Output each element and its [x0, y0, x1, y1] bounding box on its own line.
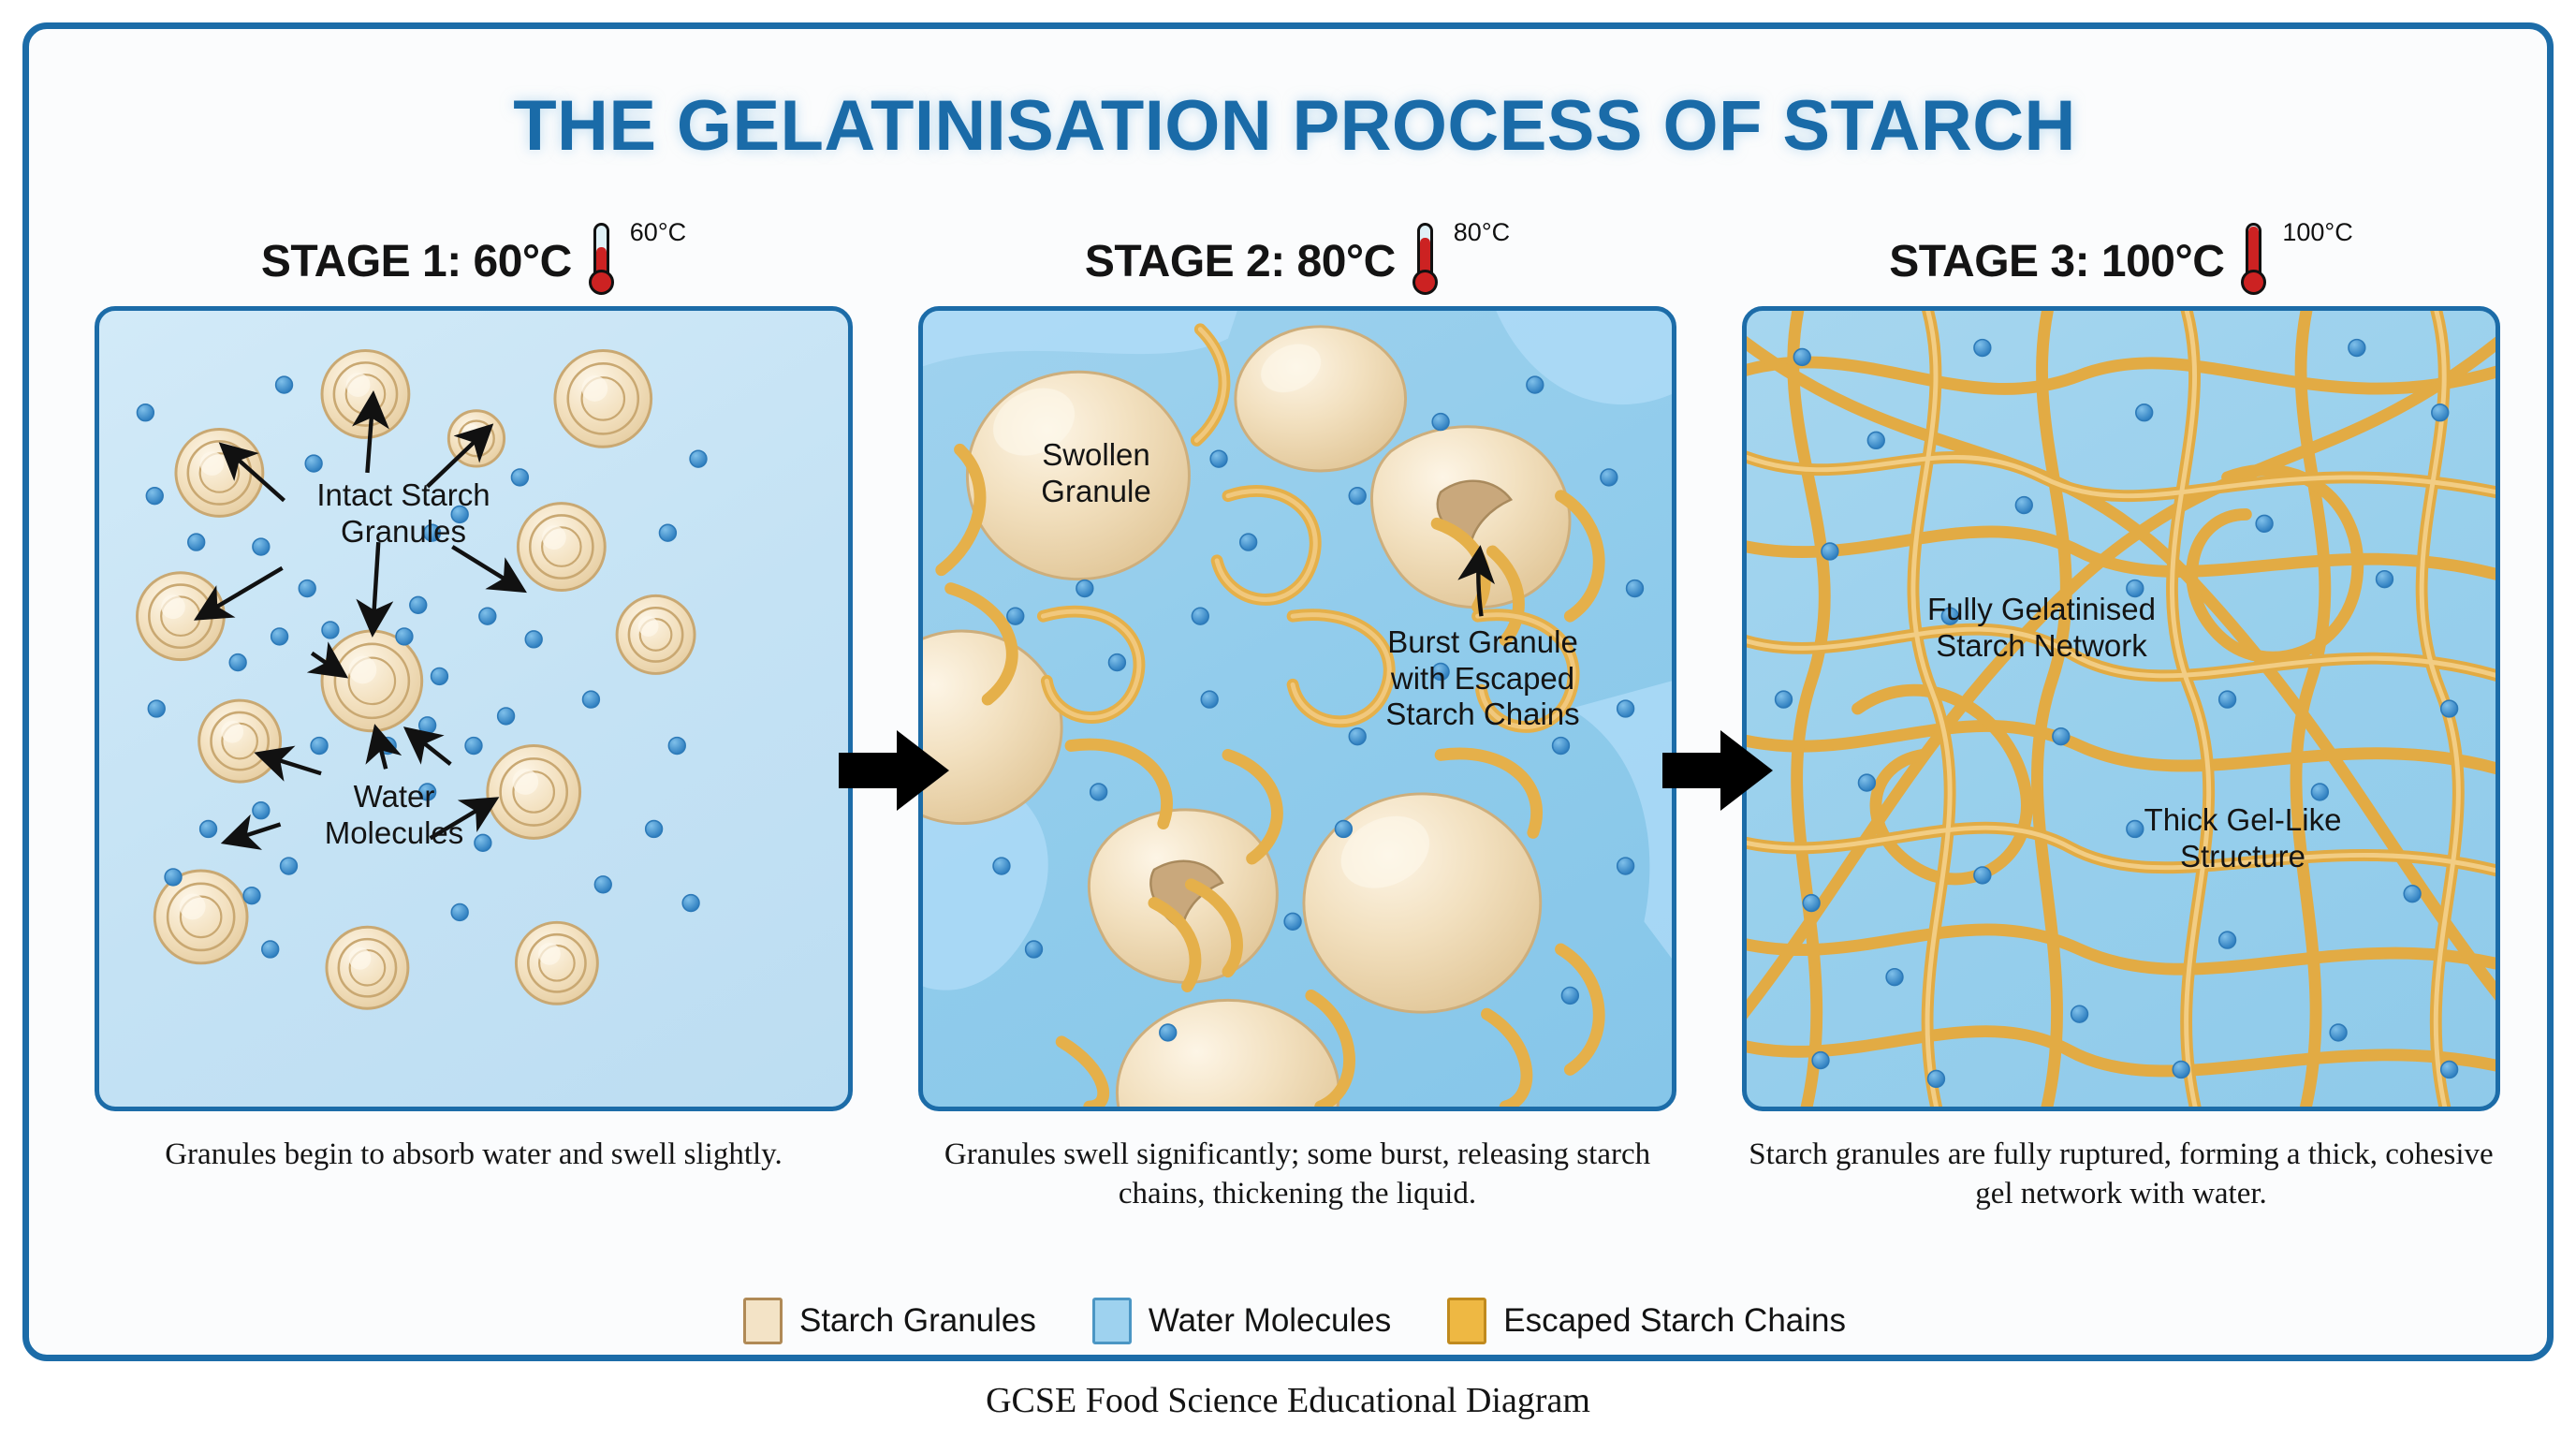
right-arrow-icon: [1662, 726, 1775, 814]
thermometer-icon: [585, 223, 617, 300]
flow-arrow-stage1-to-stage2: [839, 726, 951, 814]
stage-2-graphic: [923, 311, 1672, 1107]
stage-3-illustration: Fully Gelatinised Starch Network Thick G…: [1742, 306, 2500, 1111]
stage-3-heading: STAGE 3: 100°C: [1889, 236, 2224, 287]
stage-column-3: STAGE 3: 100°C 100°C: [1742, 216, 2500, 1213]
stage-2-heading: STAGE 2: 80°C: [1085, 236, 1396, 287]
right-arrow-icon: [839, 726, 951, 814]
stage-3-temperature: 100°C: [2282, 218, 2352, 247]
stage-2-temperature: 80°C: [1454, 218, 1510, 247]
stage-1-illustration: Intact Starch Granules Water Molecules: [95, 306, 853, 1111]
stage-2-header: STAGE 2: 80°C 80°C: [918, 216, 1676, 306]
legend-label-water-molecules: Water Molecules: [1149, 1302, 1391, 1340]
stage-3-header: STAGE 3: 100°C 100°C: [1742, 216, 2500, 306]
stage-2-illustration: Swollen Granule Burst Granule with Escap…: [918, 306, 1676, 1111]
legend-swatch-escaped-starch-chains: [1447, 1298, 1486, 1344]
stage-3-graphic: [1747, 311, 2495, 1107]
thermometer-icon: [2237, 223, 2269, 300]
diagram-frame: THE GELATINISATION PROCESS OF STARCH STA…: [22, 22, 2554, 1361]
legend-item-water-molecules: Water Molecules: [1092, 1298, 1391, 1344]
legend-label-escaped-starch-chains: Escaped Starch Chains: [1503, 1302, 1846, 1340]
stage-1-temperature: 60°C: [630, 218, 686, 247]
flow-arrow-stage2-to-stage3: [1662, 726, 1775, 814]
footer-caption: GCSE Food Science Educational Diagram: [0, 1380, 2576, 1421]
stage-column-2: STAGE 2: 80°C 80°C: [918, 216, 1676, 1213]
legend-swatch-water-molecules: [1092, 1298, 1132, 1344]
stage-1-caption: Granules begin to absorb water and swell…: [95, 1136, 853, 1175]
stage-3-caption: Starch granules are fully ruptured, form…: [1742, 1136, 2500, 1213]
legend: Starch Granules Water Molecules Escaped …: [29, 1298, 2560, 1344]
legend-label-starch-granules: Starch Granules: [799, 1302, 1036, 1340]
thermometer-icon: [1409, 223, 1441, 300]
legend-item-starch-granules: Starch Granules: [743, 1298, 1036, 1344]
stage-2-caption: Granules swell significantly; some burst…: [918, 1136, 1676, 1213]
stage-1-heading: STAGE 1: 60°C: [261, 236, 572, 287]
page-title: THE GELATINISATION PROCESS OF STARCH: [29, 85, 2560, 167]
stage-column-1: STAGE 1: 60°C 60°C: [95, 216, 853, 1175]
diagram-root: THE GELATINISATION PROCESS OF STARCH STA…: [0, 0, 2576, 1438]
legend-swatch-starch-granules: [743, 1298, 783, 1344]
stage-1-graphic: [99, 311, 848, 1107]
legend-item-escaped-starch-chains: Escaped Starch Chains: [1447, 1298, 1846, 1344]
stage-1-header: STAGE 1: 60°C 60°C: [95, 216, 853, 306]
